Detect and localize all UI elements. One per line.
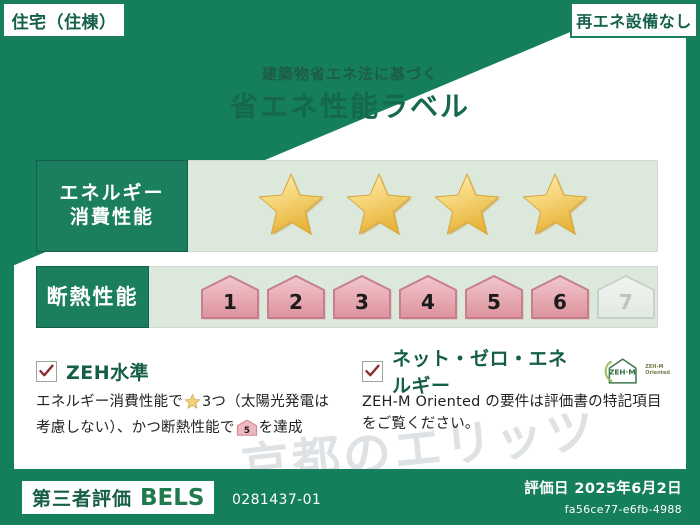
- footer-bar: 第三者評価 BELS 0281437-01 評価日 2025年6月2日 fa56…: [0, 469, 700, 525]
- star-icon: [432, 171, 502, 241]
- zeh-body-part3: を達成: [259, 420, 303, 436]
- energy-performance-row: エネルギー 消費性能: [36, 160, 658, 252]
- zeh-m-logo-icon: ZEH·M ZEH-M Oriented: [601, 356, 670, 386]
- insulation-level-badge: 5: [463, 274, 525, 320]
- renewable-equipment-tag: 再エネ設備なし: [570, 2, 698, 38]
- zeh-m-sub-line2: Oriented: [645, 370, 670, 376]
- insulation-level-badge: 4: [397, 274, 459, 320]
- insulation-level-value: 6: [553, 290, 567, 320]
- energy-performance-value: [188, 160, 658, 252]
- zeh-note-left-head: ZEH水準: [36, 358, 336, 384]
- zeh-note-right: ネット・ゼロ・エネルギー ZEH·M ZEH-M Oriented ZEH-M …: [362, 358, 670, 436]
- insulation-level-badge: 2: [265, 274, 327, 320]
- insulation-level-value: 1: [223, 290, 237, 320]
- bels-jp-label: 第三者評価: [32, 484, 132, 511]
- zeh-note-right-body: ZEH-M Oriented の要件は評価書の特記項目をご覧ください。: [362, 391, 670, 436]
- evaluation-date: 評価日 2025年6月2日: [524, 477, 682, 498]
- label-subtitle: 建築物省エネ法に基づく: [0, 63, 700, 84]
- zeh-note-right-title: ネット・ゼロ・エネルギー: [392, 344, 586, 398]
- star-icon: [520, 171, 590, 241]
- energy-label-line1: エネルギー: [59, 182, 164, 206]
- insulation-level-value: 5: [487, 290, 501, 320]
- insulation-level-badge: 3: [331, 274, 393, 320]
- check-icon: [36, 361, 57, 382]
- zeh-note-left-title: ZEH水準: [66, 358, 149, 385]
- insulation-level-badge: 6: [529, 274, 591, 320]
- insulation-level-value: 2: [289, 290, 303, 320]
- check-icon: [362, 361, 383, 382]
- inline-star-icon: [184, 393, 201, 417]
- insulation-level-badge: 7: [595, 274, 657, 320]
- zeh-body-part1: エネルギー消費性能で: [36, 394, 183, 410]
- zeh-note-left: ZEH水準 エネルギー消費性能で3つ（太陽光発電は考慮しない）、かつ断熱性能で5…: [36, 358, 336, 444]
- svg-text:5: 5: [243, 426, 249, 436]
- star-icon: [344, 171, 414, 241]
- insulation-level-value: 4: [421, 290, 435, 320]
- star-icon: [256, 171, 326, 241]
- building-type-tag: 住宅（住棟）: [2, 2, 126, 38]
- inline-house-badge-icon: 5: [236, 419, 258, 443]
- zeh-m-logo-text: ZEH·M: [609, 368, 636, 377]
- insulation-level-scale: 1234567: [149, 266, 658, 328]
- evaluation-hash: fa56ce77-e6fb-4988: [565, 503, 682, 516]
- insulation-level-value: 7: [619, 290, 633, 320]
- energy-label-line2: 消費性能: [70, 206, 154, 230]
- zeh-note-right-head: ネット・ゼロ・エネルギー ZEH·M ZEH-M Oriented: [362, 358, 670, 384]
- energy-label-card: 住宅（住棟） 再エネ設備なし 建築物省エネ法に基づく 省エネ性能ラベル エネルギ…: [0, 0, 700, 525]
- insulation-performance-row: 断熱性能 1234567: [36, 266, 658, 328]
- bels-badge: 第三者評価 BELS: [22, 481, 214, 514]
- bels-en-label: BELS: [140, 485, 204, 511]
- energy-performance-label: エネルギー 消費性能: [36, 160, 188, 252]
- zeh-m-logo-subtext: ZEH-M Oriented: [645, 365, 670, 377]
- label-title: 省エネ性能ラベル: [0, 85, 700, 125]
- zeh-note-left-body: エネルギー消費性能で3つ（太陽光発電は考慮しない）、かつ断熱性能で5を達成: [36, 391, 336, 444]
- insulation-level-badge: 1: [199, 274, 261, 320]
- bels-number: 0281437-01: [232, 492, 321, 508]
- insulation-level-value: 3: [355, 290, 369, 320]
- insulation-performance-label: 断熱性能: [36, 266, 149, 328]
- star-rating: [256, 171, 590, 241]
